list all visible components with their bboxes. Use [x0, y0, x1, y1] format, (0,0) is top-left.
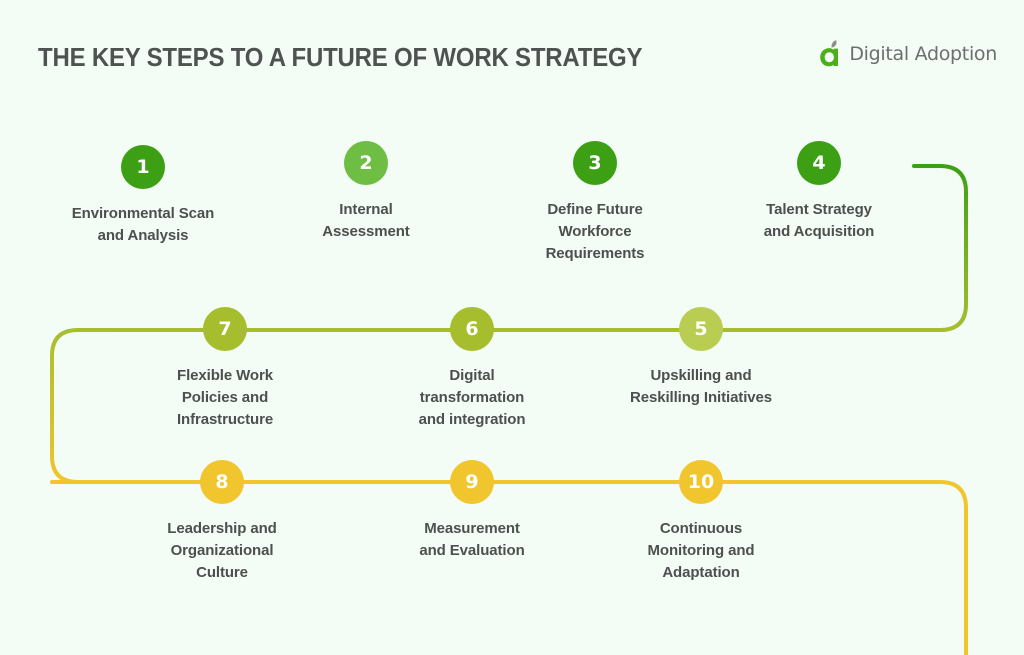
step-label: Internal Assessment	[236, 199, 496, 243]
step-number-badge[interactable]: 2	[344, 141, 388, 185]
step-label: Upskilling and Reskilling Initiatives	[571, 365, 831, 409]
step-4[interactable]: 4Talent Strategy and Acquisition	[689, 141, 949, 243]
step-label: Talent Strategy and Acquisition	[689, 199, 949, 243]
step-label: Environmental Scan and Analysis	[13, 203, 273, 247]
step-10[interactable]: 10Continuous Monitoring and Adaptation	[571, 460, 831, 584]
step-2[interactable]: 2Internal Assessment	[236, 141, 496, 243]
step-number-badge[interactable]: 10	[679, 460, 723, 504]
step-number-badge[interactable]: 5	[679, 307, 723, 351]
page-title: THE KEY STEPS TO A FUTURE OF WORK STRATE…	[38, 44, 642, 73]
step-7[interactable]: 7Flexible Work Policies and Infrastructu…	[95, 307, 355, 431]
step-label: Flexible Work Policies and Infrastructur…	[95, 365, 355, 431]
step-number-badge[interactable]: 7	[203, 307, 247, 351]
step-3[interactable]: 3Define Future Workforce Requirements	[465, 141, 725, 265]
step-9[interactable]: 9Measurement and Evaluation	[342, 460, 602, 562]
brand-logo: Digital Adoption	[818, 40, 997, 68]
step-8[interactable]: 8Leadership and Organizational Culture	[92, 460, 352, 584]
step-label: Continuous Monitoring and Adaptation	[571, 518, 831, 584]
step-label: Digital transformation and integration	[342, 365, 602, 431]
infographic-canvas: THE KEY STEPS TO A FUTURE OF WORK STRATE…	[0, 0, 1024, 655]
digital-adoption-leaf-a-logo	[818, 40, 844, 68]
step-1[interactable]: 1Environmental Scan and Analysis	[13, 145, 273, 247]
step-label: Measurement and Evaluation	[342, 518, 602, 562]
step-number-badge[interactable]: 4	[797, 141, 841, 185]
step-label: Leadership and Organizational Culture	[92, 518, 352, 584]
step-number-badge[interactable]: 9	[450, 460, 494, 504]
brand-name: Digital Adoption	[849, 43, 997, 65]
step-label: Define Future Workforce Requirements	[465, 199, 725, 265]
step-6[interactable]: 6Digital transformation and integration	[342, 307, 602, 431]
step-number-badge[interactable]: 3	[573, 141, 617, 185]
step-number-badge[interactable]: 8	[200, 460, 244, 504]
step-5[interactable]: 5Upskilling and Reskilling Initiatives	[571, 307, 831, 409]
step-number-badge[interactable]: 1	[121, 145, 165, 189]
step-number-badge[interactable]: 6	[450, 307, 494, 351]
